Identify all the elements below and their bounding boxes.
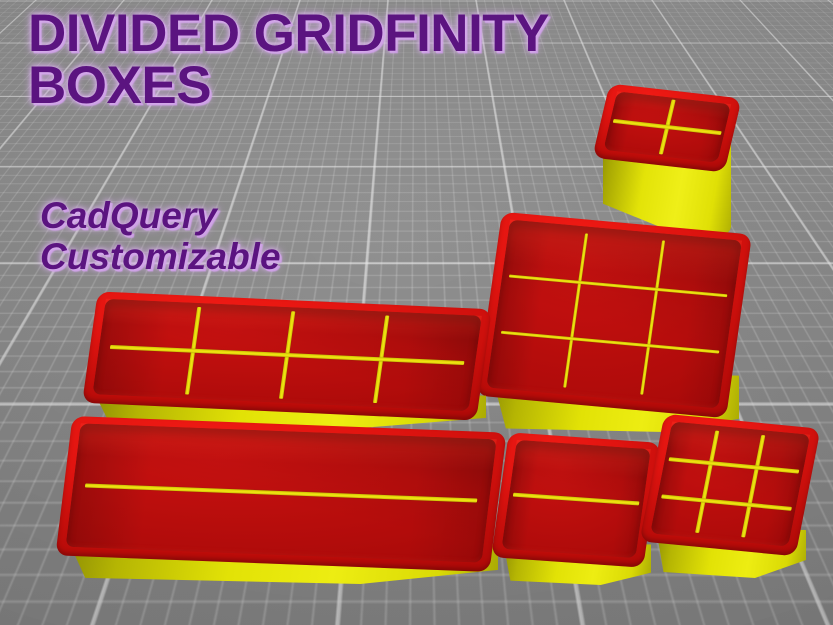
model-long-1x2-tray xyxy=(62,424,502,589)
small-1x2-bin-opening xyxy=(491,432,661,567)
small-3x3-bin-interior xyxy=(650,421,810,546)
tall-2x2-bin-opening xyxy=(592,83,742,172)
divider-vertical xyxy=(695,430,719,533)
small-3x3-bin-opening xyxy=(639,414,820,557)
divider-horizontal xyxy=(513,493,639,505)
tall-2x2-bin-interior xyxy=(603,91,731,162)
model-large-3x3-tray xyxy=(487,222,741,444)
small-1x2-bin-interior xyxy=(501,440,650,558)
divider-horizontal xyxy=(501,330,720,353)
title-block: DIVIDED GRIDFINITY BOXES xyxy=(28,8,549,113)
long-1x2-tray-interior xyxy=(66,423,497,562)
subtitle-block: CadQuery Customizable xyxy=(40,195,281,278)
page-title: DIVIDED GRIDFINITY BOXES xyxy=(28,8,549,113)
model-small-1x2-bin xyxy=(498,437,654,589)
divider-horizontal xyxy=(661,495,791,511)
long-4x2-tray-interior xyxy=(92,299,481,411)
divider-vertical xyxy=(741,435,765,538)
model-small-3x3-bin xyxy=(650,420,810,584)
model-long-4x2-tray xyxy=(88,300,488,435)
divider-vertical xyxy=(563,233,588,388)
divider-vertical xyxy=(640,240,665,395)
long-4x2-tray-opening xyxy=(82,291,492,420)
large-3x3-tray-opening xyxy=(476,212,752,418)
large-3x3-tray-interior xyxy=(486,220,742,409)
model-tall-2x2-bin xyxy=(597,90,733,236)
long-1x2-tray-opening xyxy=(55,416,506,572)
render-scene: DIVIDED GRIDFINITY BOXES CadQuery Custom… xyxy=(0,0,833,625)
divider-horizontal xyxy=(509,274,728,297)
page-subtitle: CadQuery Customizable xyxy=(40,195,281,278)
divider-horizontal xyxy=(85,484,476,503)
divider-horizontal xyxy=(669,457,799,473)
